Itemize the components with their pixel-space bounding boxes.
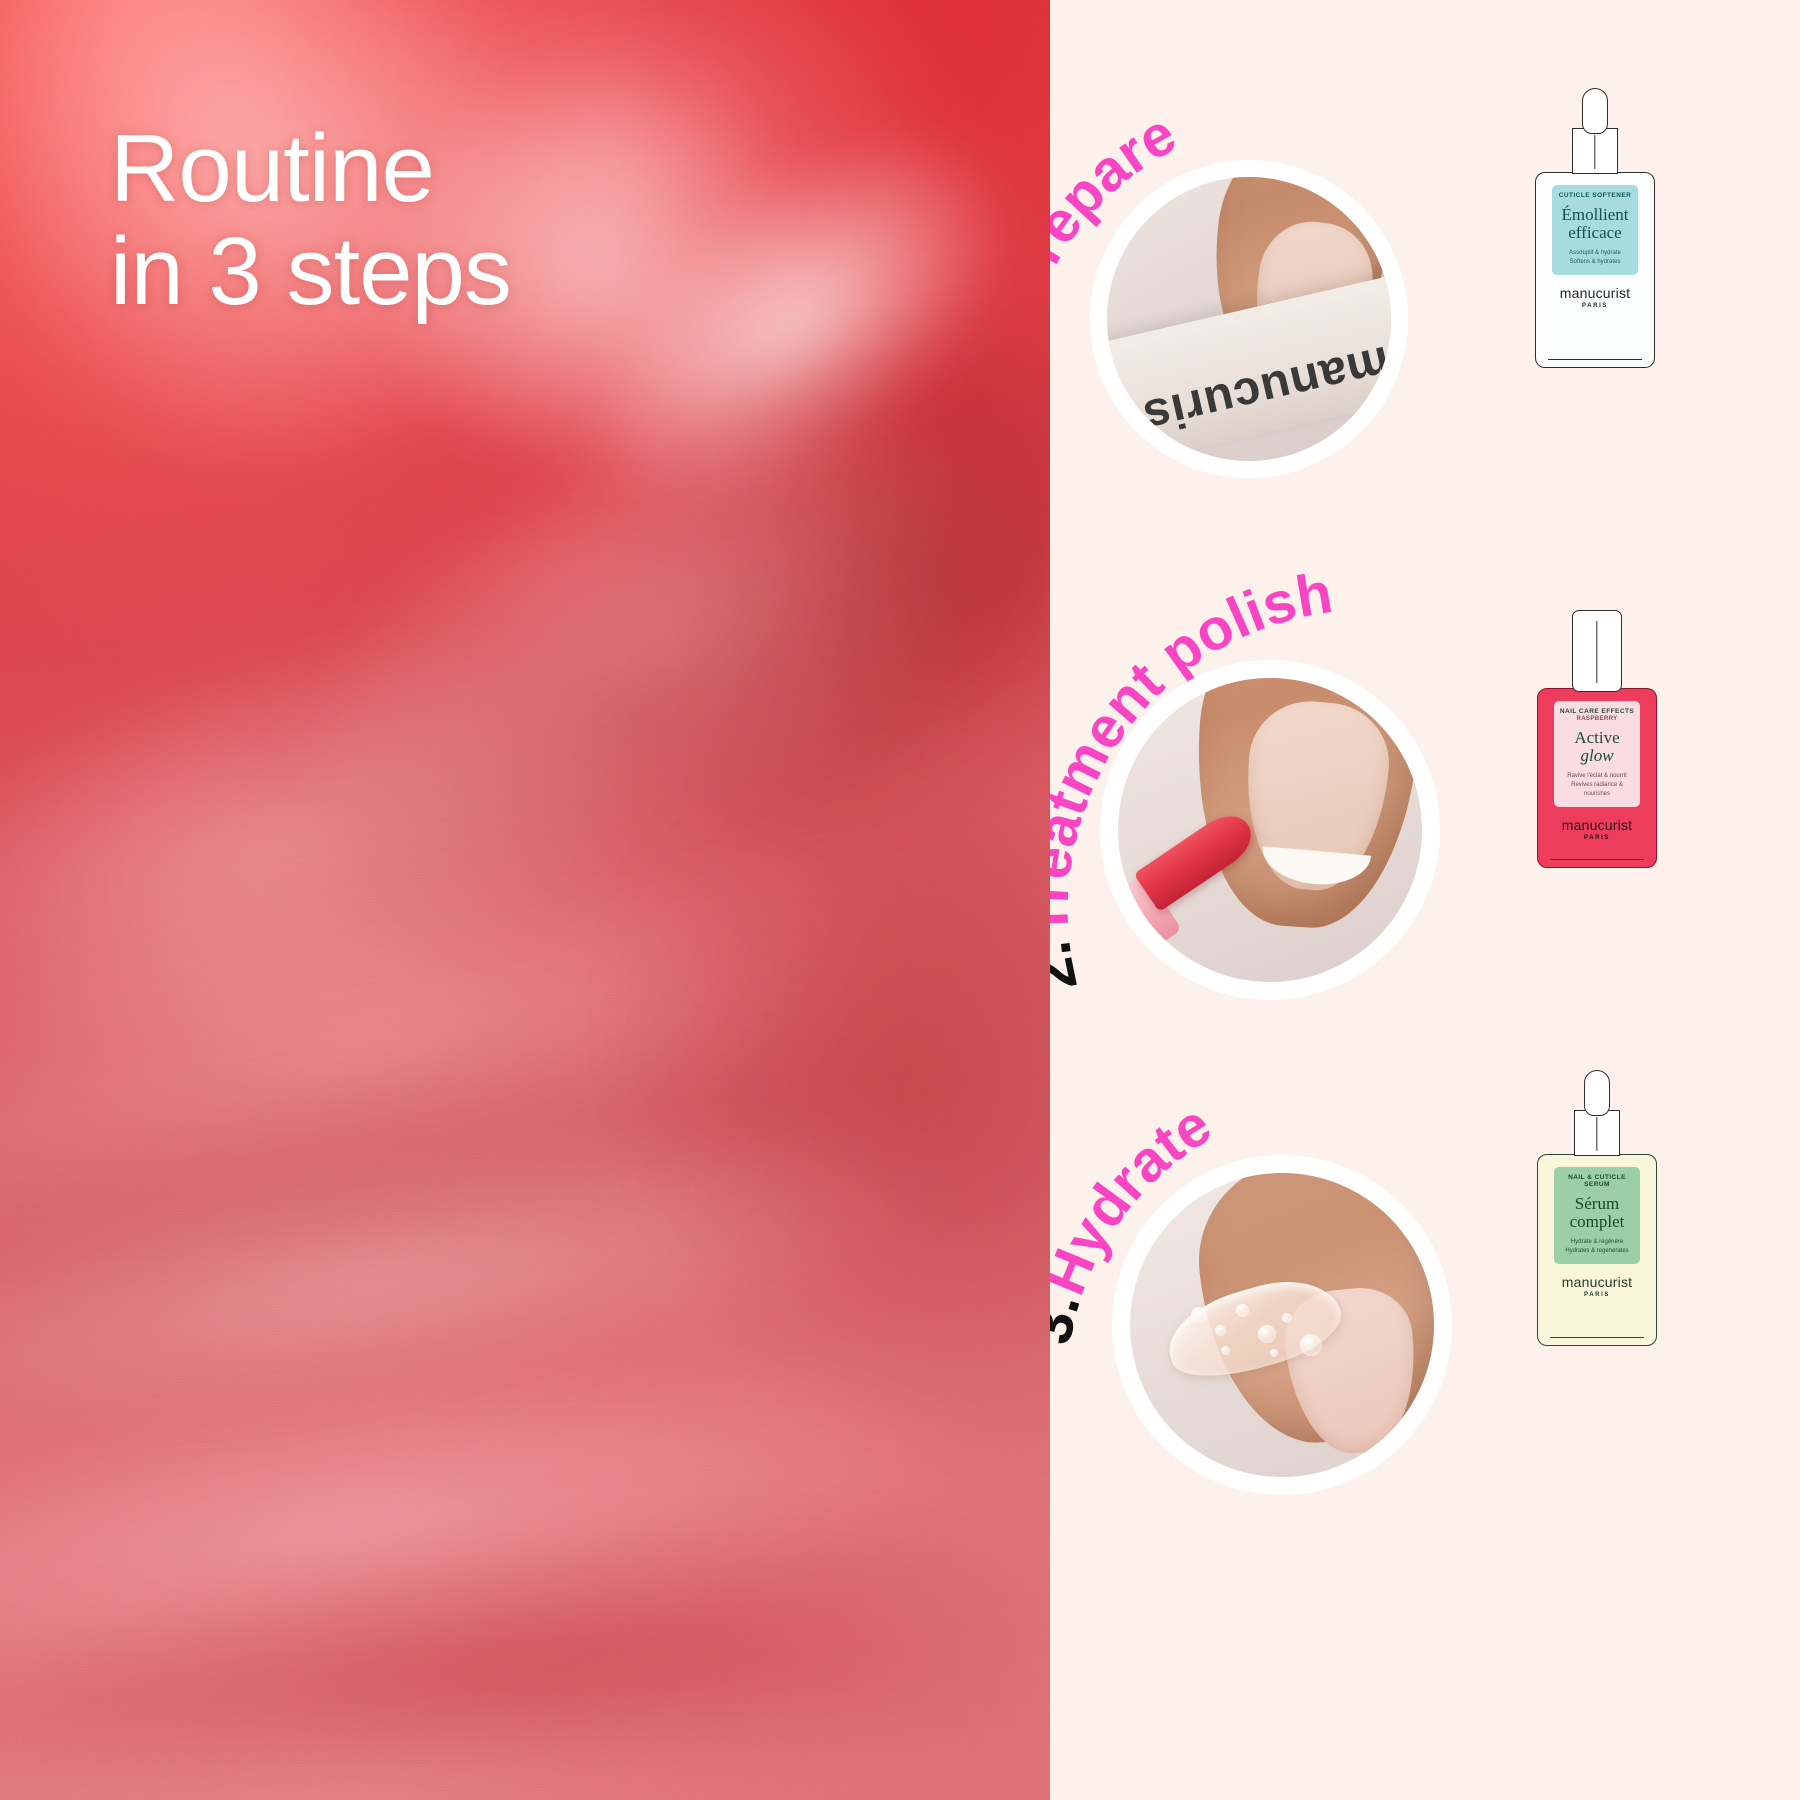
product-name: Active glow (1558, 729, 1636, 764)
bottle-brand-city: PARIS (1584, 1292, 1610, 1298)
svg-text:3.: 3. (1050, 1285, 1093, 1349)
bottle-brand: manucurist (1562, 1274, 1632, 1290)
bottle-brand: manucurist (1562, 817, 1632, 833)
step-1-photo: manucurist (1107, 177, 1391, 461)
product-claim: Assouplit & hydrate Softens & hydrates (1556, 249, 1634, 267)
dropper-bulb-icon (1584, 1070, 1610, 1116)
step-3-number: 3. (1050, 1285, 1093, 1349)
hero-panel: Routine in 3 steps (0, 0, 1050, 1800)
step-2-photo-ring (1100, 660, 1440, 1000)
product-claim: Hydrate & régénère Hydrates & regenerate… (1558, 1238, 1636, 1256)
dropper-collar-icon (1572, 128, 1618, 174)
step-2-photo (1118, 678, 1422, 982)
product-kicker: NAIL & CUTICLE SERUM (1558, 1174, 1636, 1188)
bottle-body: NAIL & CUTICLE SERUM Sérum complet Hydra… (1537, 1154, 1657, 1346)
page-title: Routine in 3 steps (110, 118, 511, 323)
svg-text:2.: 2. (1050, 937, 1090, 997)
step-1-photo-ring: manucurist (1090, 160, 1408, 478)
step-1-prepare: 1. Prepare manucurist (1050, 70, 1800, 590)
steps-panel: 1. Prepare manucurist (1050, 0, 1800, 1800)
dropper-bulb-icon (1582, 88, 1608, 134)
step-1-product-bottle[interactable]: CUTICLE SOFTENER Émollient efficace Asso… (1535, 88, 1655, 338)
bottle-body: CUTICLE SOFTENER Émollient efficace Asso… (1535, 172, 1655, 368)
routine-infographic: Routine in 3 steps 1. Prepare (0, 0, 1800, 1800)
step-3-photo (1130, 1173, 1434, 1477)
bottle-brand: manucurist (1560, 285, 1630, 301)
step-2-product-bottle[interactable]: NAIL CARE EFFECTS RASPBERRY Active glow … (1537, 610, 1657, 880)
bottle-label: NAIL CARE EFFECTS RASPBERRY Active glow … (1554, 701, 1640, 807)
product-name: Émollient efficace (1556, 206, 1634, 241)
polish-cap-icon (1572, 610, 1622, 692)
step-2-number: 2. (1050, 937, 1090, 997)
product-kicker: CUTICLE SOFTENER (1556, 192, 1634, 199)
step-3-product-bottle[interactable]: NAIL & CUTICLE SERUM Sérum complet Hydra… (1537, 1070, 1657, 1325)
product-name: Sérum complet (1558, 1195, 1636, 1230)
bottle-label: CUTICLE SOFTENER Émollient efficace Asso… (1552, 185, 1638, 275)
step-3-hydrate: 3. Hydrate (1050, 1040, 1800, 1560)
product-shade: RASPBERRY (1558, 716, 1636, 722)
bottle-brand-city: PARIS (1582, 303, 1608, 309)
product-kicker: NAIL CARE EFFECTS (1558, 708, 1636, 715)
bottle-body: NAIL CARE EFFECTS RASPBERRY Active glow … (1537, 688, 1657, 868)
dropper-collar-icon (1574, 1110, 1620, 1156)
bottle-brand-city: PARIS (1584, 835, 1610, 841)
step-2-treatment-polish: 2. Treatment polish (1050, 565, 1800, 1085)
product-claim: Ravive l'éclat & nourrit Revives radianc… (1558, 772, 1636, 799)
bottle-label: NAIL & CUTICLE SERUM Sérum complet Hydra… (1554, 1167, 1640, 1264)
step-3-photo-ring (1112, 1155, 1452, 1495)
